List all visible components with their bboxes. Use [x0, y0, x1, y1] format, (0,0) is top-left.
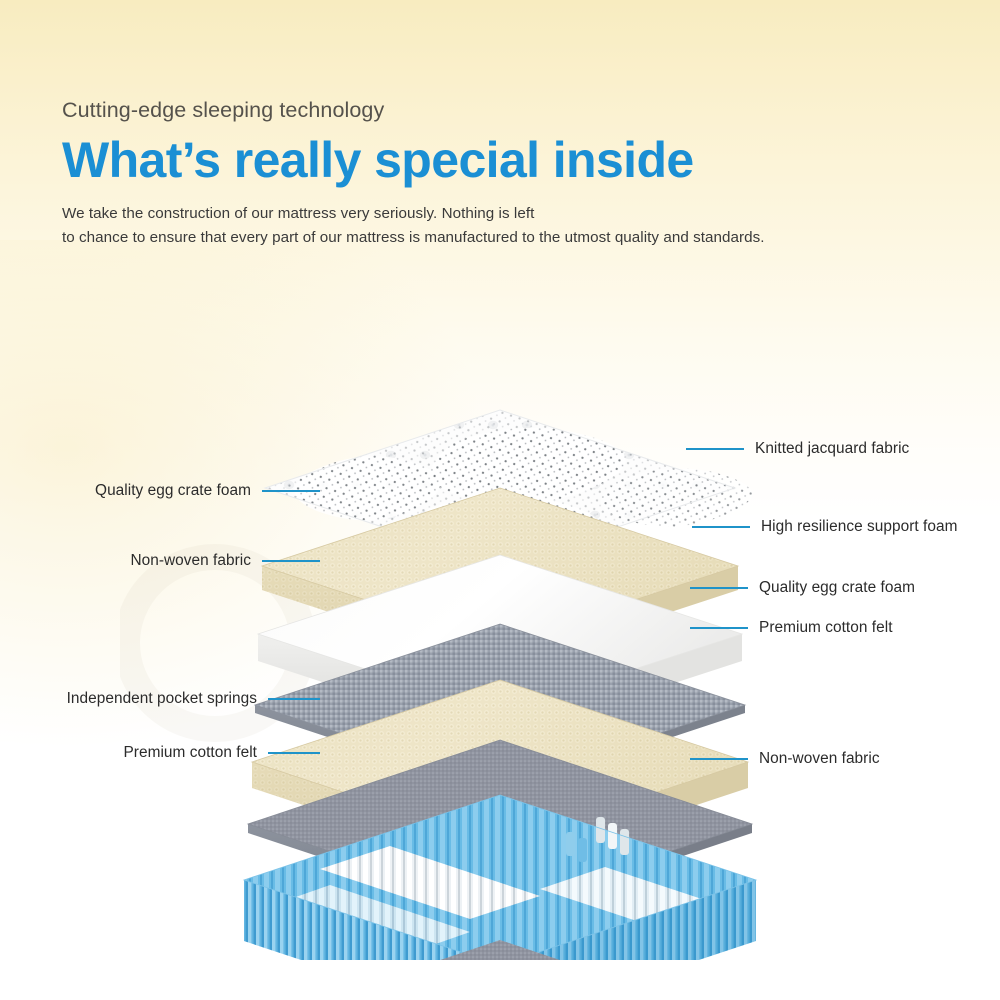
callout-label: High resilience support foam [761, 519, 957, 534]
intro-line-1: We take the construction of our mattress… [62, 205, 534, 222]
leader-line [262, 490, 320, 492]
callout-label: Independent pocket springs [67, 691, 257, 706]
callout-quality-egg-crate-foam-left[interactable]: Quality egg crate foam [60, 483, 320, 498]
callout-label: Knitted jacquard fabric [755, 441, 909, 456]
leader-line [690, 758, 748, 760]
callout-label: Non-woven fabric [759, 751, 880, 766]
callout-label: Premium cotton felt [759, 620, 893, 635]
leader-line [268, 752, 320, 754]
callout-non-woven-fabric-right[interactable]: Non-woven fabric [690, 751, 880, 766]
callout-independent-pocket-springs[interactable]: Independent pocket springs [10, 691, 320, 706]
callout-label: Premium cotton felt [123, 745, 257, 760]
leader-line [690, 587, 748, 589]
callout-non-woven-fabric-left[interactable]: Non-woven fabric [60, 553, 320, 568]
callout-premium-cotton-felt-right[interactable]: Premium cotton felt [690, 620, 893, 635]
intro-line-2: to chance to ensure that every part of o… [62, 229, 765, 246]
mattress-exploded-diagram [0, 380, 1000, 960]
callout-quality-egg-crate-foam-right[interactable]: Quality egg crate foam [690, 580, 915, 595]
leader-line [686, 448, 744, 450]
page-title: What’s really special inside [62, 134, 962, 186]
callout-label: Quality egg crate foam [759, 580, 915, 595]
callout-label: Quality egg crate foam [95, 483, 251, 498]
leader-line [692, 526, 750, 528]
infographic-canvas: Cutting-edge sleeping technology What’s … [0, 0, 1000, 1000]
callout-knitted-jacquard-fabric[interactable]: Knitted jacquard fabric [686, 441, 909, 456]
leader-line [690, 627, 748, 629]
eyebrow-text: Cutting-edge sleeping technology [62, 98, 962, 124]
header-block: Cutting-edge sleeping technology What’s … [62, 98, 962, 251]
callout-label: Non-woven fabric [130, 553, 251, 568]
callout-premium-cotton-felt-left[interactable]: Premium cotton felt [10, 745, 320, 760]
callout-high-resilience-support-foam[interactable]: High resilience support foam [692, 519, 957, 534]
leader-line [268, 698, 320, 700]
intro-paragraph: We take the construction of our mattress… [62, 202, 892, 251]
leader-line [262, 560, 320, 562]
